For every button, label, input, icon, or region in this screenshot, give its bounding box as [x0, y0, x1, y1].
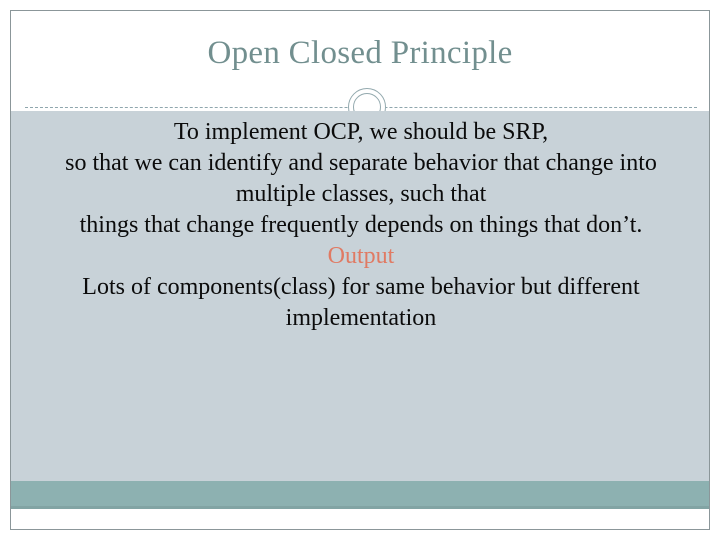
page-title: Open Closed Principle	[11, 33, 709, 73]
footer-whitespace	[11, 509, 709, 529]
body-paragraph-2: so that we can identify and separate beh…	[29, 148, 693, 210]
title-area: Open Closed Principle	[11, 11, 709, 98]
footer-band	[11, 481, 709, 509]
body-paragraph-3: things that change frequently depends on…	[29, 210, 693, 241]
body-paragraph-1: To implement OCP, we should be SRP,	[29, 117, 693, 148]
slide-canvas: Open Closed Principle To implement OCP, …	[10, 10, 710, 530]
body-paragraph-4: Lots of components(class) for same behav…	[29, 272, 693, 334]
body-text-block: To implement OCP, we should be SRP, so t…	[29, 117, 693, 334]
body-panel: To implement OCP, we should be SRP, so t…	[11, 111, 709, 501]
output-label: Output	[29, 241, 693, 272]
